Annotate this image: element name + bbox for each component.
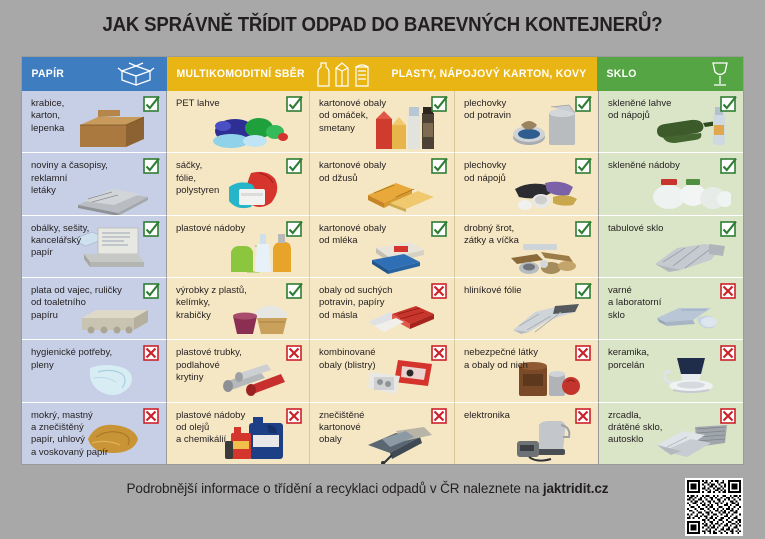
glass-jars-photo [649, 177, 731, 215]
table-row[interactable]: plastové trubky,podlahovékrytiny [167, 340, 310, 402]
footer-text-before: Podrobnější informace o třídění a recykl… [127, 481, 543, 496]
table-row[interactable]: keramika,porcelán [599, 340, 743, 402]
check-mark-icon [431, 96, 448, 113]
row-label: obaly od suchýchpotravin, papíryod másla [319, 285, 423, 322]
row-label: kombinovanéobaly (blistry) [319, 347, 423, 372]
cross-mark-icon [720, 345, 737, 362]
table-row[interactable]: plechovkyod potravin [455, 91, 599, 153]
column-header-paper: PAPÍR [22, 57, 167, 91]
cross-mark-icon [431, 408, 448, 425]
row-label: varnéa laboratornísklo [608, 285, 712, 322]
check-mark-icon [720, 158, 737, 175]
column-header-multikomodit: MULTIKOMODITNÍ SBĚR PLASTY, NÁPOJOVÝ KAR… [167, 57, 597, 91]
table-row[interactable]: znečištěnékartonovéobaly [310, 403, 455, 464]
row-label: noviny a časopisy,reklamníletáky [31, 160, 135, 197]
row-label: elektronika [464, 410, 568, 422]
row-label: skleněné nádoby [608, 160, 712, 172]
table-row[interactable]: kartonové obalyod džusů [310, 153, 455, 215]
check-mark-icon [286, 221, 303, 238]
row-label: drobný šrot,zátky a víčka [464, 223, 568, 248]
table-row[interactable]: drobný šrot,zátky a víčka [455, 216, 599, 278]
plastic-containers-photo [223, 230, 295, 278]
check-mark-icon [286, 158, 303, 175]
row-label: PET lahve [176, 98, 280, 110]
table-row[interactable]: kartonové obalyod mléka [310, 216, 455, 278]
column-paper: krabice,karton,lepenka noviny a časopisy… [22, 91, 167, 464]
footer-link[interactable]: jaktridit.cz [543, 481, 609, 496]
column-header-multikomodit-label: MULTIKOMODITNÍ SBĚR [167, 68, 305, 80]
page-title: JAK SPRÁVNĚ TŘÍDIT ODPAD DO BAREVNÝCH KO… [27, 0, 738, 37]
table-row[interactable]: noviny a časopisy,reklamníletáky [22, 153, 167, 215]
row-label: sáčky,fólie,polystyren [176, 160, 280, 197]
column-glass: skleněné lahveod nápojů skleně [599, 91, 743, 464]
row-label: kartonové obalyod džusů [319, 160, 423, 185]
table-row[interactable]: hygienické potřeby,pleny [22, 340, 167, 402]
row-label: plata od vajec, ruličkyod toaletníhopapí… [31, 285, 135, 322]
check-mark-icon [720, 96, 737, 113]
check-mark-icon [143, 96, 160, 113]
cardboard-box-icon [117, 62, 155, 86]
check-mark-icon [575, 158, 592, 175]
row-label: kartonové obalyod omáček,smetany [319, 98, 423, 135]
table-row[interactable]: mokrý, mastnýa znečištěnýpapír, uhlovýa … [22, 403, 167, 464]
cross-mark-icon [431, 345, 448, 362]
row-label: plechovkyod nápojů [464, 160, 568, 185]
column-metal: plechovkyod potravin [455, 91, 599, 464]
cross-mark-icon [286, 408, 303, 425]
table-row[interactable]: krabice,karton,lepenka [22, 91, 167, 153]
check-mark-icon [143, 283, 160, 300]
check-mark-icon [431, 221, 448, 238]
check-mark-icon [720, 221, 737, 238]
cross-mark-icon [575, 345, 592, 362]
table-row[interactable]: nebezpečné látkya obaly od nich [455, 340, 599, 402]
table-row[interactable]: elektronika [455, 403, 599, 464]
table-row[interactable]: skleněné nádoby [599, 153, 743, 215]
column-header-paper-label: PAPÍR [22, 68, 64, 80]
table-row[interactable]: kombinovanéobaly (blistry) [310, 340, 455, 402]
cross-mark-icon [143, 408, 160, 425]
cross-mark-icon [720, 283, 737, 300]
cross-mark-icon [286, 345, 303, 362]
check-mark-icon [143, 221, 160, 238]
check-mark-icon [286, 96, 303, 113]
check-mark-icon [431, 158, 448, 175]
bottle-carton-can-icon [312, 61, 374, 87]
check-mark-icon [575, 221, 592, 238]
row-label: plastové nádobyod olejůa chemikálií [176, 410, 280, 447]
table-row[interactable]: tabulové sklo [599, 216, 743, 278]
table-row[interactable]: kartonové obalyod omáček,smetany [310, 91, 455, 153]
column-carton: kartonové obalyod omáček,smetany [310, 91, 455, 464]
footer: Podrobnější informace o třídění a recykl… [0, 480, 765, 498]
row-label: nebezpečné látkya obaly od nich [464, 347, 568, 372]
column-header-glass: SKLO [597, 57, 743, 91]
footer-text: Podrobnější informace o třídění a recykl… [127, 481, 609, 496]
table-row[interactable]: plastové nádobyod olejůa chemikálií [167, 403, 310, 464]
column-plastics: PET lahve sáčky,f [167, 91, 310, 464]
row-label: tabulové sklo [608, 223, 712, 235]
row-label: skleněné lahveod nápojů [608, 98, 712, 123]
row-label: krabice,karton,lepenka [31, 98, 135, 135]
row-label: znečištěnékartonovéobaly [319, 410, 423, 447]
table-row[interactable]: PET lahve [167, 91, 310, 153]
cross-mark-icon [143, 345, 160, 362]
table-row[interactable]: plata od vajec, ruličkyod toaletníhopapí… [22, 278, 167, 340]
column-header-plasty-label: PLASTY, NÁPOJOVÝ KARTON, KOVY [382, 68, 587, 80]
check-mark-icon [143, 158, 160, 175]
table-row[interactable]: varnéa laboratornísklo [599, 278, 743, 340]
check-mark-icon [286, 283, 303, 300]
waste-sorting-table: PAPÍR MULTIKOMODITNÍ SBĚR [21, 56, 744, 465]
table-row[interactable]: výrobky z plastů,kelímky,krabičky [167, 278, 310, 340]
table-row[interactable]: zrcadla,drátěné sklo,autosklo [599, 403, 743, 464]
cross-mark-icon [720, 408, 737, 425]
table-row[interactable]: obálky, sešity,kancelářskýpapír [22, 216, 167, 278]
row-label: mokrý, mastnýa znečištěnýpapír, uhlovýa … [31, 410, 135, 460]
table-body: krabice,karton,lepenka noviny a časopisy… [22, 91, 743, 464]
sheet-glass-photo [651, 238, 731, 278]
row-label: hliníkové fólie [464, 285, 568, 297]
cross-mark-icon [431, 283, 448, 300]
table-header-row: PAPÍR MULTIKOMODITNÍ SBĚR [22, 57, 743, 91]
pet-bottles-photo [209, 111, 295, 153]
row-label: plastové nádoby [176, 223, 280, 235]
row-label: plastové trubky,podlahovékrytiny [176, 347, 280, 384]
check-mark-icon [575, 283, 592, 300]
aluminium-foil-photo [509, 300, 585, 340]
wine-glass-icon [709, 61, 731, 87]
row-label: hygienické potřeby,pleny [31, 347, 135, 372]
electronics-photo [511, 417, 583, 464]
row-label: obálky, sešity,kancelářskýpapír [31, 223, 135, 260]
row-label: keramika,porcelán [608, 347, 712, 372]
table-row[interactable]: skleněné lahveod nápojů [599, 91, 743, 153]
table-row[interactable]: sáčky,fólie,polystyren [167, 153, 310, 215]
table-row[interactable]: plechovkyod nápojů [455, 153, 599, 215]
table-row[interactable]: plastové nádoby [167, 216, 310, 278]
row-label: zrcadla,drátěné sklo,autosklo [608, 410, 712, 447]
row-label: kartonové obalyod mléka [319, 223, 423, 248]
column-header-glass-label: SKLO [597, 68, 637, 80]
table-row[interactable]: hliníkové fólie [455, 278, 599, 340]
table-row[interactable]: obaly od suchýchpotravin, papíryod másla [310, 278, 455, 340]
row-label: plechovkyod potravin [464, 98, 568, 123]
cross-mark-icon [575, 408, 592, 425]
check-mark-icon [575, 96, 592, 113]
row-label: výrobky z plastů,kelímky,krabičky [176, 285, 280, 322]
qr-code-icon[interactable] [685, 478, 743, 536]
